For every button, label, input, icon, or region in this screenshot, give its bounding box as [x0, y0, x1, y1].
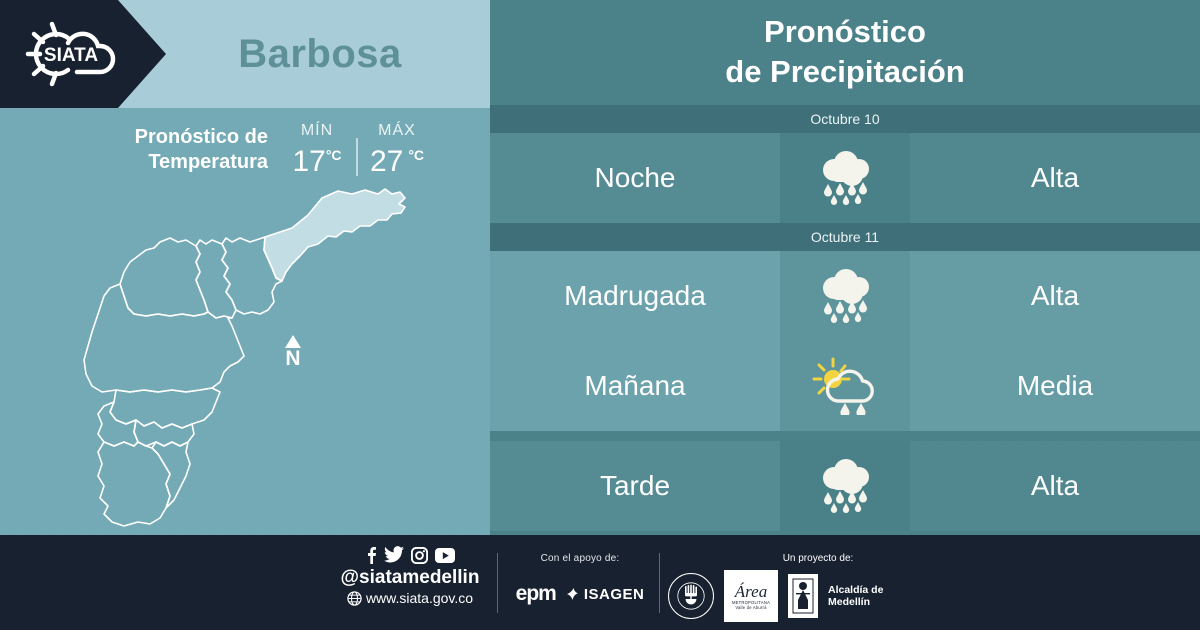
forecast-row-tarde[interactable]: Tarde Alta: [490, 441, 1200, 531]
period-label: Noche: [490, 133, 780, 223]
level-label: Alta: [910, 133, 1200, 223]
date-band-oct11: Octubre 11: [490, 223, 1200, 251]
social-block: @siatamedellin www.siata.gov.co: [330, 545, 490, 606]
left-panel: Barbosa SIATA Pronóstico de Tempe: [0, 0, 490, 535]
ames-subtitle-2: Valle de Aburrá: [735, 605, 766, 610]
facebook-icon[interactable]: [365, 546, 377, 564]
ames-wordmark: Área: [735, 583, 767, 600]
level-label: Media: [910, 341, 1200, 431]
udea-seal-logo[interactable]: [668, 573, 714, 619]
footer: @siatamedellin www.siata.gov.co Con el a…: [0, 535, 1200, 630]
isagen-mark-icon: [566, 587, 581, 601]
period-label: Madrugada: [490, 251, 780, 341]
north-label: N: [278, 349, 308, 369]
isagen-logo[interactable]: ISAGEN: [584, 586, 645, 603]
forecast-row-manana[interactable]: Mañana: [490, 341, 1200, 431]
rain-cloud-glyph: [812, 458, 878, 514]
rain-cloud-icon: [780, 441, 910, 531]
level-label: Alta: [910, 441, 1200, 531]
social-handle[interactable]: @siatamedellin: [330, 567, 490, 589]
support-caption: Con el apoyo de:: [505, 553, 655, 564]
temperature-title-line2: Temperatura: [148, 151, 268, 173]
alcaldia-crest-icon: [792, 578, 814, 614]
north-indicator: N: [278, 335, 308, 369]
temperature-divider: [356, 138, 358, 176]
rain-cloud-glyph: [812, 268, 878, 324]
temperature-min: MÍN 17°C: [278, 122, 356, 179]
temperature-max: MÁX 27°C: [358, 122, 436, 179]
degree-unit: °C: [326, 147, 342, 163]
date-band-oct10: Octubre 10: [490, 105, 1200, 133]
forecast-title-line1: Pronóstico: [764, 14, 926, 49]
rain-cloud-icon: [780, 251, 910, 341]
twitter-icon[interactable]: [384, 546, 404, 564]
support-logos: epm ISAGEN: [505, 582, 655, 606]
social-icons: [330, 545, 490, 565]
project-logos: Área METROPOLITANA Valle de Aburrá Alcal…: [668, 570, 918, 622]
period-label: Tarde: [490, 441, 780, 531]
map-svg: [60, 180, 440, 530]
footer-divider-1: [497, 553, 498, 613]
project-caption: Un proyecto de:: [718, 553, 918, 564]
forecast-title-line2: de Precipitación: [725, 54, 964, 89]
website-row[interactable]: www.siata.gov.co: [330, 590, 490, 606]
rain-cloud-icon: [780, 133, 910, 223]
alcaldia-crest-logo[interactable]: [788, 574, 818, 618]
udea-emblem-icon: [676, 581, 706, 611]
temperature-title-line1: Pronóstico de: [135, 126, 268, 148]
area-metropolitana-logo[interactable]: Área METROPOLITANA Valle de Aburrá: [724, 570, 778, 622]
support-block: Con el apoyo de: epm ISAGEN: [505, 553, 655, 606]
forecast-panel: Pronóstico de Precipitación Octubre 10 N…: [490, 0, 1200, 535]
project-block: Un proyecto de:: [668, 553, 918, 622]
date-label: Octubre 11: [811, 229, 879, 245]
level-label: Alta: [910, 251, 1200, 341]
valle-de-aburra-map[interactable]: N: [0, 180, 490, 535]
footer-divider-2: [659, 553, 660, 613]
sun-cloud-rain-icon: [780, 341, 910, 431]
temperature-section: Pronóstico de Temperatura MÍN 17°C MÁX 2…: [0, 108, 490, 188]
temperature-values: MÍN 17°C MÁX 27°C: [278, 122, 436, 179]
temperature-max-value: 27°C: [358, 138, 436, 179]
youtube-icon[interactable]: [435, 548, 455, 563]
website-url: www.siata.gov.co: [366, 590, 473, 606]
page-title: Barbosa: [150, 0, 490, 108]
globe-icon: [347, 591, 362, 606]
alcaldia-label: Alcaldía de Medellín: [828, 584, 918, 608]
degree-unit: °C: [408, 147, 424, 163]
sun-cloud-rain-glyph: [809, 357, 881, 415]
epm-logo[interactable]: epm: [516, 582, 556, 606]
forecast-row-noche[interactable]: Noche Alta: [490, 133, 1200, 223]
forecast-row-madrugada[interactable]: Madrugada: [490, 251, 1200, 341]
temperature-min-value: 17°C: [278, 138, 356, 179]
date-label: Octubre 10: [810, 111, 879, 127]
svg-text:SIATA: SIATA: [44, 45, 98, 66]
instagram-icon[interactable]: [411, 547, 428, 564]
temperature-title: Pronóstico de Temperatura: [88, 125, 268, 175]
period-label: Mañana: [490, 341, 780, 431]
weather-forecast-card: Barbosa SIATA Pronóstico de Tempe: [0, 0, 1200, 630]
rain-cloud-glyph: [812, 150, 878, 206]
forecast-title: Pronóstico de Precipitación: [490, 12, 1200, 92]
sun-cloud-icon: SIATA: [14, 14, 134, 94]
